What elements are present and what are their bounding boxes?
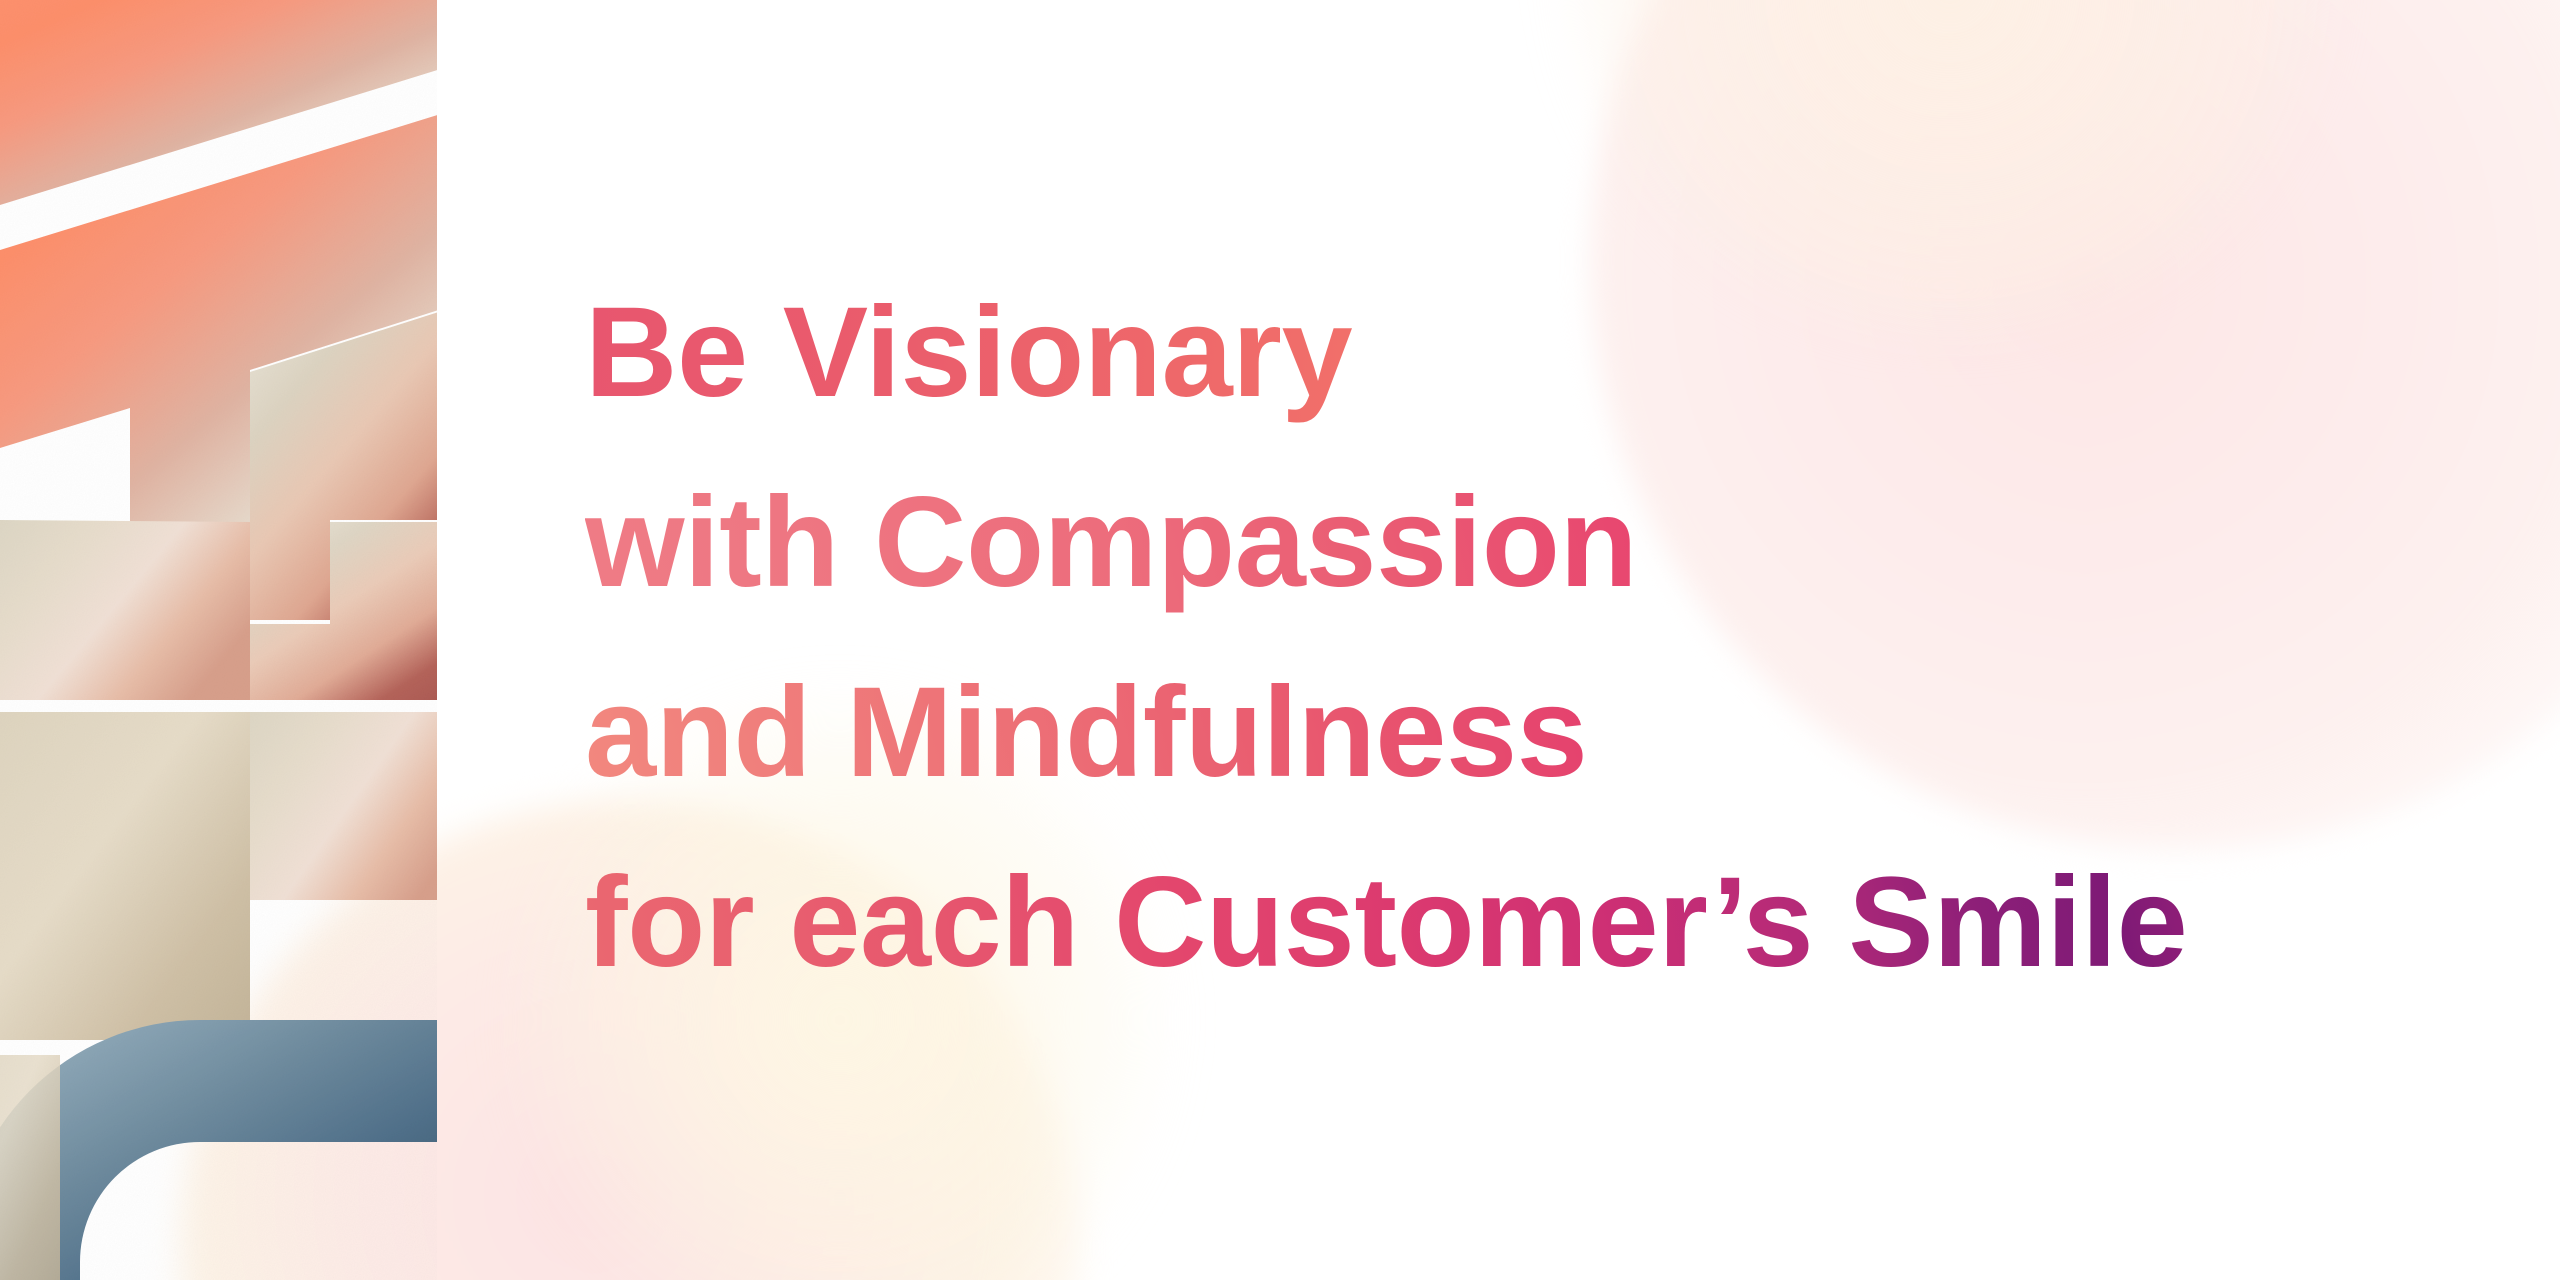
headline-line-3: and Mindfulness xyxy=(585,638,2485,828)
hero-headline: Be Visionary with Compassion and Mindful… xyxy=(585,258,2485,1018)
headline-line-4: for each Customer’s Smile xyxy=(585,828,2485,1018)
headline-line-1: Be Visionary xyxy=(585,258,2485,448)
headline-line-2: with Compassion xyxy=(585,448,2485,638)
letterform-graphic xyxy=(0,0,437,1280)
letterform-l xyxy=(0,700,437,1040)
letterform-c xyxy=(0,1020,437,1280)
letterform-svg xyxy=(0,0,437,1280)
hero-banner: Be Visionary with Compassion and Mindful… xyxy=(0,0,2560,1280)
